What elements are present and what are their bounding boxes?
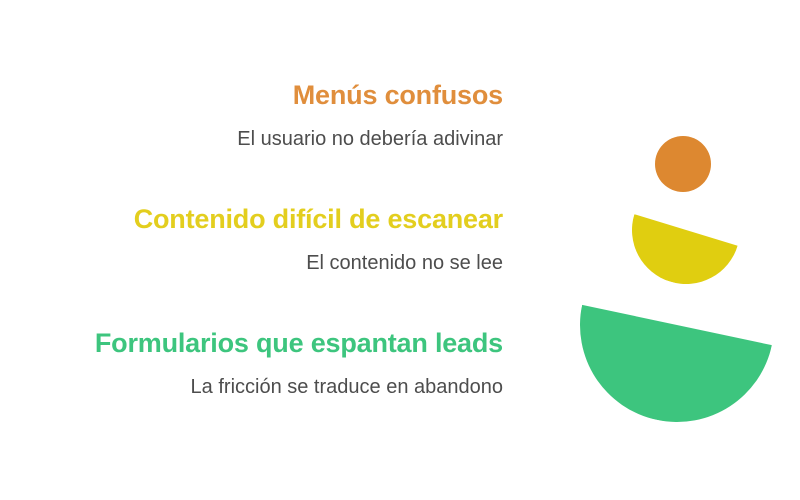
point-heading-formularios: Formularios que espantan leads [0, 326, 503, 360]
decorative-abstract-figure [560, 120, 790, 370]
point-heading-contenido: Contenido difícil de escanear [0, 202, 503, 236]
point-subtitle-formularios: La fricción se traduce en abandono [0, 360, 503, 400]
point-block-formularios: Formularios que espantan leads La fricci… [0, 326, 503, 400]
point-heading-menus: Menús confusos [0, 78, 503, 112]
point-block-menus: Menús confusos El usuario no debería adi… [0, 78, 503, 152]
circle-shape-icon [655, 136, 711, 192]
slide-canvas: Menús confusos El usuario no debería adi… [0, 0, 800, 500]
point-block-contenido: Contenido difícil de escanear El conteni… [0, 202, 503, 276]
point-subtitle-menus: El usuario no debería adivinar [0, 112, 503, 152]
bullet-points-column: Menús confusos El usuario no debería adi… [0, 0, 503, 500]
point-subtitle-contenido: El contenido no se lee [0, 236, 503, 276]
